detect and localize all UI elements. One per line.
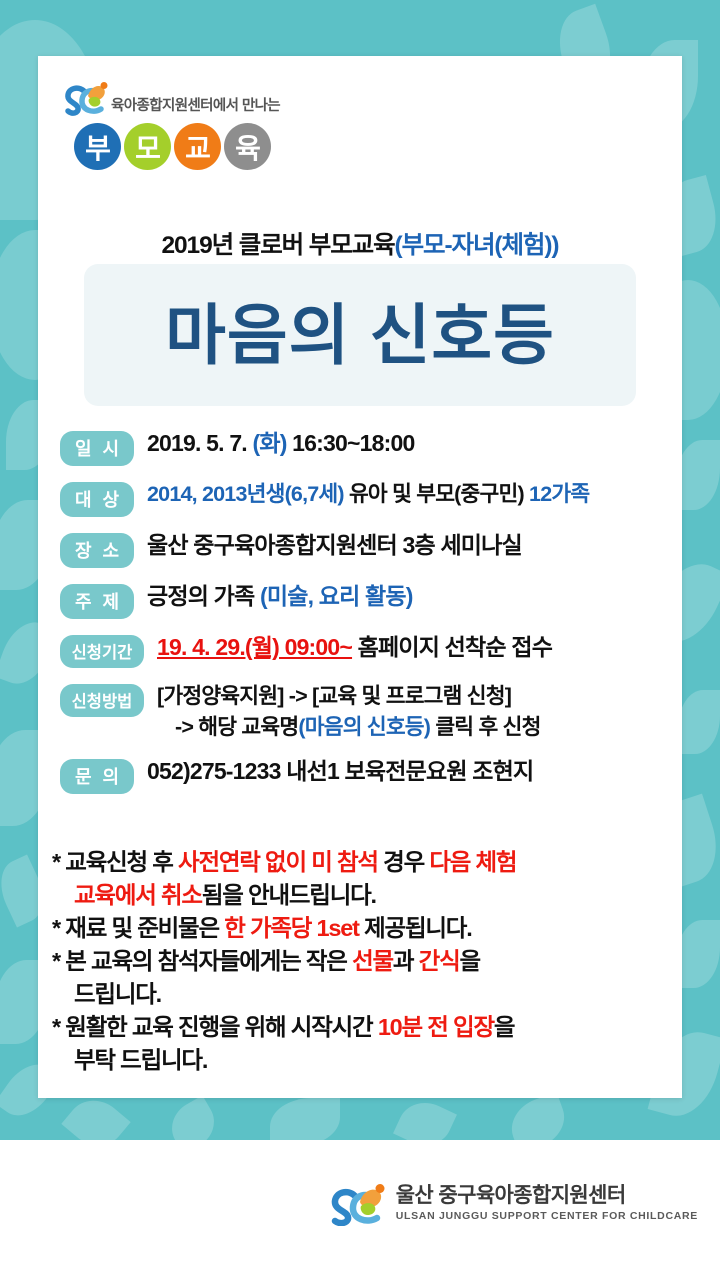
brand-tagline: 육아종합지원센터에서 만나는 (111, 94, 280, 118)
info-row-apply-period: 신청기간 19. 4. 29.(월) 09:00~ 홈페이지 선착순 접수 (60, 632, 670, 668)
sc-swoosh-logo-icon (64, 82, 110, 118)
footer-center-name-en: ULSAN JUNGGU SUPPORT CENTER FOR CHILDCAR… (396, 1210, 698, 1222)
footer-center-name-ko: 울산 중구육아종합지원센터 (396, 1184, 626, 1207)
info-value-contact: 052)275-1233 내선1 보육전문요원 조현지 (147, 756, 533, 787)
footer-logo: 울산 중구육아종합지원센터 ULSAN JUNGGU SUPPORT CENTE… (330, 1184, 698, 1224)
info-label-datetime: 일 시 (60, 431, 134, 466)
note-item: * 교육신청 후 사전연락 없이 미 참석 경우 다음 체험교육에서 취소됨을 … (52, 846, 676, 912)
footer-text: 울산 중구육아종합지원센터 ULSAN JUNGGU SUPPORT CENTE… (396, 1185, 698, 1224)
brand-syllable-gyo: 교 (174, 123, 221, 170)
poster-background: 육아종합지원센터에서 만나는 부 모 교 육 2019년 클로버 부모교육(부모… (0, 0, 720, 1140)
info-label-apply-method: 신청방법 (60, 684, 144, 717)
page-footer: 울산 중구육아종합지원센터 ULSAN JUNGGU SUPPORT CENTE… (0, 1140, 720, 1280)
subtitle-plain: 2019년 클로버 부모교육 (162, 232, 395, 259)
info-list: 일 시 2019. 5. 7. (화) 16:30~18:00 대 상 2014… (60, 428, 670, 807)
info-row-contact: 문 의 052)275-1233 내선1 보육전문요원 조현지 (60, 756, 670, 794)
note-item: * 재료 및 준비물은 한 가족당 1set 제공됩니다. (52, 912, 676, 945)
info-label-apply-period: 신청기간 (60, 635, 144, 668)
brand-syllable-yuk: 육 (224, 123, 271, 170)
sc-swoosh-logo-icon (330, 1184, 388, 1224)
info-value-place: 울산 중구육아종합지원센터 3층 세미나실 (147, 530, 522, 561)
brand-syllable-bu: 부 (74, 123, 121, 170)
page-title: 마음의 신호등 (84, 270, 636, 400)
info-row-topic: 주 제 긍정의 가족 (미술, 요리 활동) (60, 581, 670, 619)
note-item: * 본 교육의 참석자들에게는 작은 선물과 간식을드립니다. (52, 945, 676, 1011)
info-value-audience: 2014, 2013년생(6,7세) 유아 및 부모(중구민) 12가족 (147, 479, 589, 510)
info-row-audience: 대 상 2014, 2013년생(6,7세) 유아 및 부모(중구민) 12가족 (60, 479, 670, 517)
info-value-apply-method: [가정양육지원] -> [교육 및 프로그램 신청]-> 해당 교육명(마음의 … (157, 681, 541, 743)
info-row-datetime: 일 시 2019. 5. 7. (화) 16:30~18:00 (60, 428, 670, 466)
poster-subtitle: 2019년 클로버 부모교육(부모-자녀(체험)) (38, 226, 682, 261)
note-item: * 원활한 교육 진행을 위해 시작시간 10분 전 입장을부탁 드립니다. (52, 1011, 676, 1077)
brand-header: 육아종합지원센터에서 만나는 부 모 교 육 (64, 82, 364, 170)
info-value-apply-period: 19. 4. 29.(월) 09:00~ 홈페이지 선착순 접수 (157, 632, 552, 663)
brand-syllables: 부 모 교 육 (74, 123, 364, 170)
info-label-contact: 문 의 (60, 759, 134, 794)
info-label-place: 장 소 (60, 533, 134, 568)
info-label-audience: 대 상 (60, 482, 134, 517)
info-label-topic: 주 제 (60, 584, 134, 619)
info-row-place: 장 소 울산 중구육아종합지원센터 3층 세미나실 (60, 530, 670, 568)
poster-card: 육아종합지원센터에서 만나는 부 모 교 육 2019년 클로버 부모교육(부모… (38, 56, 682, 1098)
brand-syllable-mo: 모 (124, 123, 171, 170)
info-value-topic: 긍정의 가족 (미술, 요리 활동) (147, 581, 413, 612)
subtitle-highlight: (부모-자녀(체험)) (395, 232, 559, 259)
info-row-apply-method: 신청방법 [가정양육지원] -> [교육 및 프로그램 신청]-> 해당 교육명… (60, 681, 670, 743)
info-value-datetime: 2019. 5. 7. (화) 16:30~18:00 (147, 428, 414, 459)
notes-list: * 교육신청 후 사전연락 없이 미 참석 경우 다음 체험교육에서 취소됨을 … (52, 846, 676, 1077)
